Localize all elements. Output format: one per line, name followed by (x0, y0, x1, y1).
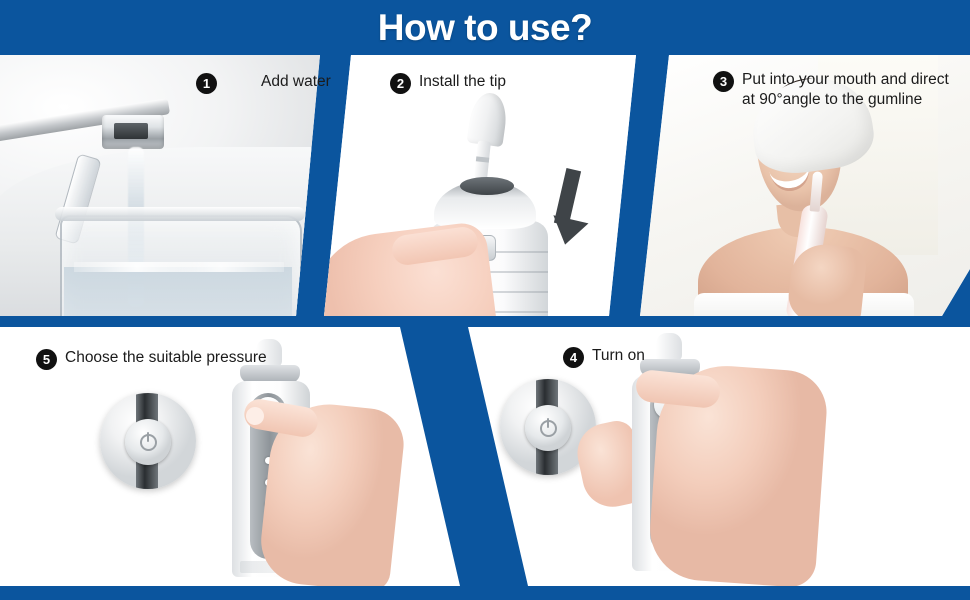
step-label-4: Turn on (592, 346, 645, 366)
step-panel-1[interactable] (0, 55, 320, 316)
step-caption-4: 4 Turn on (563, 346, 645, 368)
device-tip (656, 333, 682, 361)
bottom-bar (0, 586, 970, 600)
device-cap (460, 177, 514, 195)
step-caption-2: 2 Install the tip (390, 72, 506, 94)
infographic-canvas: How to use? (0, 0, 970, 600)
step-badge-5: 5 (36, 349, 57, 370)
header-banner: How to use? (0, 0, 970, 55)
step-panel-4[interactable] (404, 327, 970, 586)
step-badge-3: 3 (713, 71, 734, 92)
callout-power-button (525, 405, 571, 451)
step-badge-4: 4 (563, 347, 584, 368)
step-caption-5: 5 Choose the suitable pressure (36, 348, 267, 370)
step-panel-2[interactable] (324, 55, 636, 316)
power-icon (540, 420, 557, 437)
step-badge-1: 1 (196, 73, 217, 94)
page-title: How to use? (378, 9, 592, 46)
step-label-3: Put into your mouth and direct at 90°ang… (742, 70, 949, 110)
step-caption-1: 1 Add water (196, 72, 331, 94)
faucet-head-icon (102, 115, 164, 149)
water-fill-level (64, 267, 292, 316)
tank-lip (55, 207, 305, 221)
step-label-1: Add water (261, 72, 331, 92)
step-label-2: Install the tip (419, 72, 506, 92)
step-badge-2: 2 (390, 73, 411, 94)
power-button-callout (100, 393, 196, 489)
callout-power-button (125, 419, 171, 465)
step-label-5: Choose the suitable pressure (65, 348, 267, 368)
step-caption-3: 3 Put into your mouth and direct at 90°a… (713, 70, 949, 110)
power-icon (140, 434, 157, 451)
